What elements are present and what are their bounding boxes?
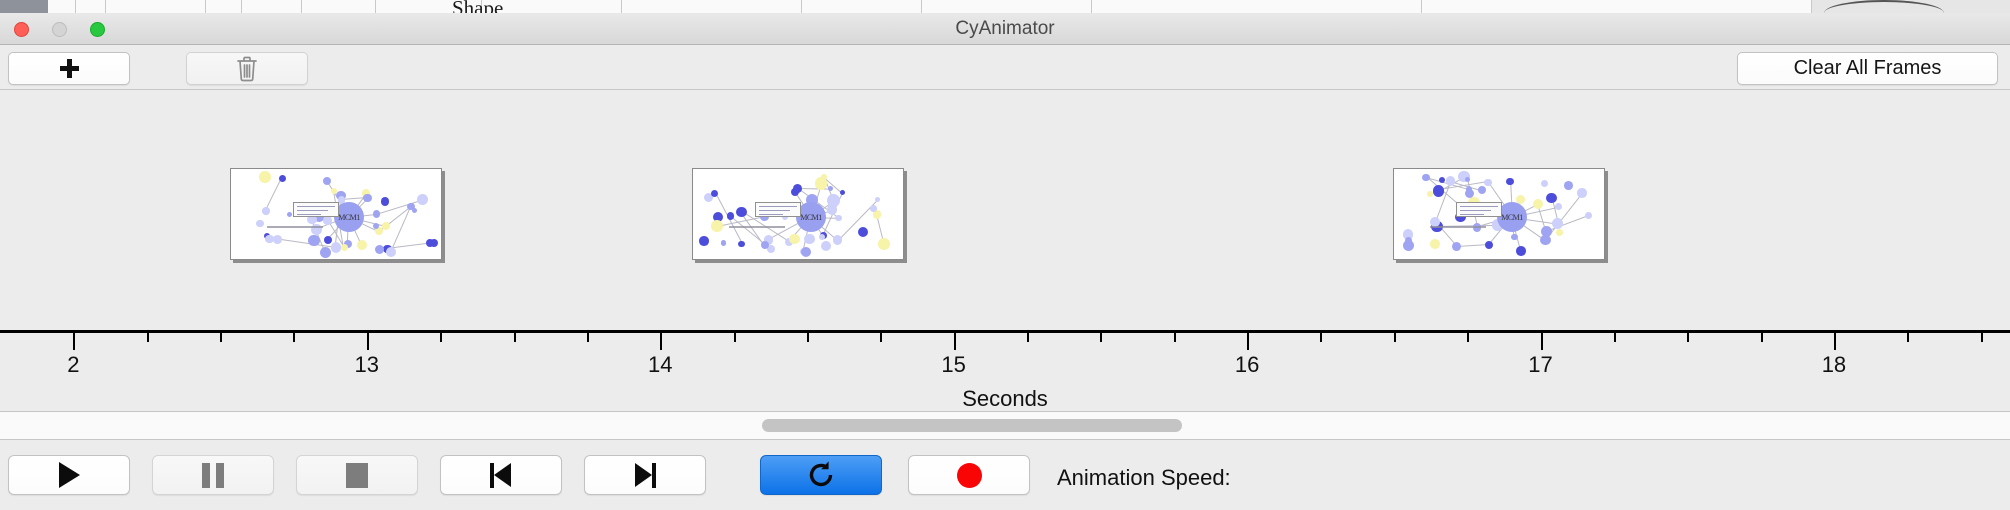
network-node	[412, 208, 417, 213]
network-node	[1478, 186, 1486, 194]
frame-thumbnail[interactable]: MCM1	[230, 168, 442, 260]
tick-minor	[1687, 333, 1689, 342]
network-node	[1555, 203, 1562, 210]
frame-thumbnail[interactable]: MCM1	[1393, 168, 1605, 260]
network-node	[1422, 174, 1430, 182]
tooltip-text-line	[297, 206, 335, 207]
tick-minor	[880, 333, 882, 342]
network-node	[341, 244, 348, 251]
pause-button[interactable]	[152, 455, 274, 495]
network-node	[256, 220, 263, 227]
network-node	[1433, 185, 1445, 197]
network-node	[287, 212, 292, 217]
network-node	[273, 235, 282, 244]
network-node	[386, 247, 396, 257]
tick-minor	[440, 333, 442, 342]
network-node	[711, 220, 723, 232]
tick-label: 15	[941, 352, 965, 378]
skip-previous-button[interactable]	[440, 455, 562, 495]
tick-major	[1247, 333, 1249, 350]
timeline-panel[interactable]: MCM1MCM1MCM1 2131415161718 Seconds	[0, 90, 2010, 412]
tooltip-text-line	[759, 206, 797, 207]
network-tooltip-box	[293, 202, 339, 217]
axis-title-seconds: Seconds	[0, 386, 2010, 412]
network-edge	[797, 188, 830, 190]
network-node	[835, 215, 841, 221]
tick-minor	[1761, 333, 1763, 342]
network-node	[324, 236, 332, 244]
network-caption-line	[1430, 226, 1486, 228]
network-node	[821, 241, 831, 251]
tick-minor	[1614, 333, 1616, 342]
network-tooltip-box	[755, 202, 801, 217]
network-node	[1546, 193, 1556, 203]
record-icon	[957, 463, 982, 488]
cyanimator-window: Shape CyAnimator Clear All Frames MCM1MC…	[0, 0, 2010, 510]
tick-minor	[1100, 333, 1102, 342]
tick-major	[660, 333, 662, 350]
network-node	[833, 235, 842, 244]
network-node	[331, 242, 341, 252]
network-edge	[265, 178, 282, 211]
network-node	[1552, 218, 1564, 230]
network-node	[858, 227, 868, 237]
network-node	[382, 222, 390, 230]
tick-minor	[1320, 333, 1322, 342]
delete-frame-button[interactable]	[186, 52, 308, 85]
network-node	[308, 235, 320, 247]
network-node	[736, 207, 746, 217]
tooltip-text-line	[1460, 210, 1491, 211]
network-node	[840, 190, 845, 195]
stop-icon	[346, 463, 368, 488]
network-node	[259, 171, 271, 183]
pause-icon	[202, 463, 224, 488]
tooltip-text-line	[759, 214, 783, 215]
frame-thumbnail[interactable]: MCM1	[692, 168, 904, 260]
network-node	[1511, 234, 1517, 240]
network-node	[1465, 177, 1470, 182]
network-node	[804, 234, 814, 244]
tooltip-text-line	[1460, 206, 1498, 207]
trash-icon	[235, 55, 259, 82]
network-caption-line	[729, 226, 785, 228]
network-node	[821, 174, 827, 180]
tick-minor	[147, 333, 149, 342]
record-button[interactable]	[908, 455, 1030, 495]
clear-all-frames-label: Clear All Frames	[1794, 57, 1942, 80]
tick-major	[1541, 333, 1543, 350]
tick-label: 17	[1528, 352, 1552, 378]
tick-minor	[1027, 333, 1029, 342]
playback-bar: Animation Speed:	[0, 441, 2010, 510]
network-node	[363, 194, 371, 202]
network-node	[721, 240, 727, 246]
network-node	[262, 207, 269, 214]
network-node	[738, 241, 745, 248]
network-node	[789, 234, 800, 245]
network-node	[1484, 179, 1492, 187]
network-node	[1485, 241, 1493, 249]
tick-major	[73, 333, 75, 350]
tick-label: 2	[67, 352, 79, 378]
tick-minor	[1467, 333, 1469, 342]
tick-minor	[1174, 333, 1176, 342]
network-node	[417, 194, 428, 205]
network-node	[1452, 242, 1461, 251]
tick-major	[1834, 333, 1836, 350]
frame-thumbnail-canvas: MCM1	[231, 169, 441, 259]
tick-minor	[1981, 333, 1983, 342]
network-node	[827, 204, 838, 215]
add-frame-button[interactable]	[8, 52, 130, 85]
network-node	[1533, 199, 1543, 209]
network-node	[430, 239, 439, 248]
plus-icon	[60, 59, 79, 78]
network-node	[1427, 191, 1434, 198]
stop-button[interactable]	[296, 455, 418, 495]
network-node	[373, 223, 379, 229]
tick-minor	[587, 333, 589, 342]
network-node	[279, 175, 286, 182]
network-node	[357, 240, 368, 251]
network-node	[375, 245, 384, 254]
scrollbar-thumb[interactable]	[762, 419, 1182, 432]
network-node	[870, 205, 877, 212]
tick-minor	[1907, 333, 1909, 342]
timeline-scrollbar[interactable]	[0, 412, 2010, 440]
tick-minor	[293, 333, 295, 342]
tooltip-text-line	[297, 214, 321, 215]
tick-minor	[807, 333, 809, 342]
loop-button[interactable]	[760, 455, 882, 495]
tick-minor	[1394, 333, 1396, 342]
network-tooltip-box	[1456, 202, 1502, 217]
network-node	[1430, 239, 1440, 249]
background-window-text: Shape	[452, 0, 503, 13]
skip-next-icon	[632, 463, 658, 488]
tick-minor	[734, 333, 736, 342]
tick-minor	[514, 333, 516, 342]
network-node	[373, 210, 380, 217]
clear-all-frames-button[interactable]: Clear All Frames	[1737, 52, 1998, 85]
network-node	[320, 247, 331, 258]
network-node	[1556, 229, 1563, 236]
tooltip-text-line	[759, 210, 790, 211]
timeline-axis	[0, 330, 2010, 333]
play-button[interactable]	[8, 455, 130, 495]
network-node	[699, 236, 708, 245]
network-node	[1564, 181, 1573, 190]
loop-refresh-icon	[806, 460, 836, 490]
network-node	[1516, 246, 1526, 256]
network-node	[1577, 188, 1586, 197]
tick-minor	[220, 333, 222, 342]
tick-major	[367, 333, 369, 350]
background-window-strip: Shape	[0, 0, 2010, 13]
network-node	[1585, 212, 1592, 219]
network-node	[381, 197, 389, 205]
network-node	[819, 234, 825, 240]
network-caption-line	[267, 226, 323, 228]
frame-thumbnail-canvas: MCM1	[1394, 169, 1604, 259]
skip-previous-icon	[488, 463, 514, 488]
network-node	[793, 184, 802, 193]
network-node	[1541, 226, 1552, 237]
tick-label: 16	[1235, 352, 1259, 378]
title-bar: CyAnimator	[0, 13, 2010, 45]
animation-speed-label: Animation Speed:	[1057, 465, 1231, 491]
network-node	[875, 197, 880, 202]
skip-next-button[interactable]	[584, 455, 706, 495]
frame-thumbnail-canvas: MCM1	[693, 169, 903, 259]
window-title: CyAnimator	[0, 13, 2010, 45]
tick-major	[954, 333, 956, 350]
network-node	[1403, 240, 1414, 251]
network-node	[828, 186, 833, 191]
tick-label: 13	[355, 352, 379, 378]
network-node	[1541, 180, 1548, 187]
tick-label: 14	[648, 352, 672, 378]
tooltip-text-line	[1460, 214, 1484, 215]
network-node	[323, 216, 332, 225]
network-node	[801, 247, 811, 257]
tooltip-text-line	[297, 210, 328, 211]
tick-label: 18	[1822, 352, 1846, 378]
network-node	[1506, 178, 1514, 186]
network-node	[323, 177, 331, 185]
network-node	[878, 238, 890, 250]
network-node	[265, 235, 273, 243]
play-icon	[59, 462, 80, 488]
toolbar: Clear All Frames	[0, 45, 2010, 90]
